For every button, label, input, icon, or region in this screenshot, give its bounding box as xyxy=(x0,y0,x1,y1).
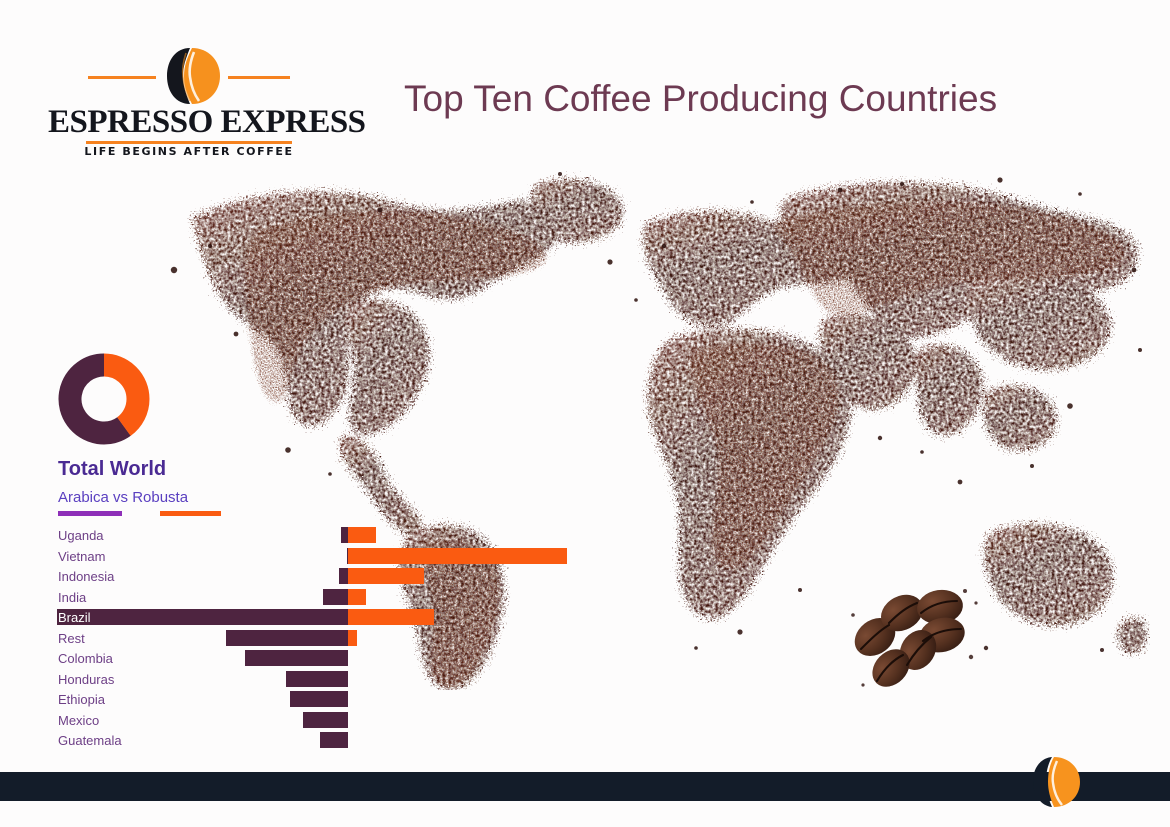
bar-row: Rest xyxy=(0,628,700,649)
page-title: Top Ten Coffee Producing Countries xyxy=(404,78,997,120)
bar-label-colombia: Colombia xyxy=(58,651,113,666)
bar-row: Honduras xyxy=(0,669,700,690)
footer-coffee-bean-icon xyxy=(1024,755,1086,809)
bar-row: Guatemala xyxy=(0,730,700,751)
footer-bar xyxy=(0,772,1170,801)
bar-row: India xyxy=(0,587,700,608)
bar-label-vietnam: Vietnam xyxy=(58,549,105,564)
bar-segment-arabica xyxy=(323,589,348,605)
bar-label-mexico: Mexico xyxy=(58,713,99,728)
diverging-bar-chart: UgandaVietnamIndonesiaIndiaBrazilRestCol… xyxy=(0,525,700,755)
coffee-bean-icon xyxy=(156,46,228,108)
bar-row: Brazil xyxy=(0,607,700,628)
bar-segment-arabica xyxy=(290,691,348,707)
legend-swatch-arabica xyxy=(58,511,122,516)
coffee-beans-cluster xyxy=(845,585,985,690)
bar-label-brazil: Brazil xyxy=(58,610,91,625)
bar-label-indonesia: Indonesia xyxy=(58,569,114,584)
total-world-donut-chart xyxy=(56,351,152,447)
logo-rule-right xyxy=(228,76,290,79)
bar-row: Vietnam xyxy=(0,546,700,567)
bar-segment-arabica xyxy=(245,650,348,666)
bar-segment-arabica xyxy=(57,609,348,625)
bar-segment-arabica xyxy=(320,732,348,748)
bar-segment-arabica xyxy=(341,527,348,543)
bar-segment-arabica xyxy=(303,712,348,728)
bar-row: Ethiopia xyxy=(0,689,700,710)
bar-segment-arabica xyxy=(226,630,348,646)
legend-swatch-robusta xyxy=(160,511,221,516)
bar-segment-robusta xyxy=(348,609,434,625)
bar-segment-robusta xyxy=(348,527,376,543)
logo-rule-left xyxy=(88,76,156,79)
bar-label-ethiopia: Ethiopia xyxy=(58,692,105,707)
bar-row: Colombia xyxy=(0,648,700,669)
infographic-canvas: ESPRESSO EXPRESS LIFE BEGINS AFTER COFFE… xyxy=(0,0,1170,827)
bar-label-guatemala: Guatemala xyxy=(58,733,122,748)
bar-row: Mexico xyxy=(0,710,700,731)
bar-label-india: India xyxy=(58,590,86,605)
brand-name: ESPRESSO EXPRESS xyxy=(48,104,330,141)
bar-label-rest: Rest xyxy=(58,631,85,646)
bar-row: Indonesia xyxy=(0,566,700,587)
bar-segment-robusta xyxy=(348,548,567,564)
legend-title: Arabica vs Robusta xyxy=(58,489,188,506)
bar-segment-robusta xyxy=(348,630,357,646)
brand-logo: ESPRESSO EXPRESS LIFE BEGINS AFTER COFFE… xyxy=(48,46,330,152)
donut-title: Total World xyxy=(58,458,166,481)
bar-segment-robusta xyxy=(348,589,366,605)
bar-segment-arabica xyxy=(339,568,348,584)
bar-segment-robusta xyxy=(348,568,424,584)
bar-label-uganda: Uganda xyxy=(58,528,104,543)
logo-underline xyxy=(86,141,292,144)
bar-label-honduras: Honduras xyxy=(58,672,114,687)
bar-segment-arabica xyxy=(286,671,348,687)
bar-row: Uganda xyxy=(0,525,700,546)
